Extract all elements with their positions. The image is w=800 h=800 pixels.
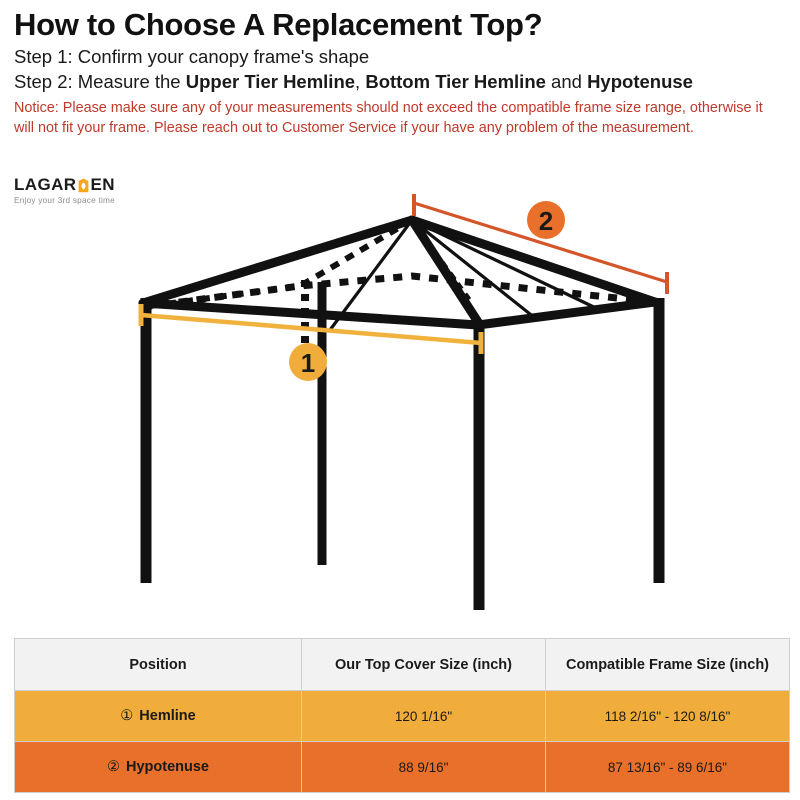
step-2-term-upper-tier-hemline: Upper Tier Hemline [186, 71, 355, 92]
support-posts [146, 282, 659, 610]
table-row: ①Hemline 120 1/16" 118 2/16" - 120 8/16" [15, 691, 790, 742]
cell-our-size-hypotenuse: 88 9/16" [302, 742, 546, 793]
column-header-position: Position [15, 639, 302, 691]
step-2-line: Step 2: Measure the Upper Tier Hemline, … [14, 70, 788, 94]
cell-compatible-hemline: 118 2/16" - 120 8/16" [546, 691, 790, 742]
badge-hemline-1: 1 [289, 343, 327, 381]
badge-hemline-label: 1 [301, 348, 315, 378]
cell-our-size-hemline: 120 1/16" [302, 691, 546, 742]
step-2-term-hypotenuse: Hypotenuse [587, 71, 693, 92]
badge-hypotenuse-label: 2 [539, 206, 553, 236]
gazebo-canopy-frame-diagram: 1 2 [0, 190, 800, 630]
table-header-row: Position Our Top Cover Size (inch) Compa… [15, 639, 790, 691]
row-marker-2: ② [107, 759, 120, 775]
table-header: Position Our Top Cover Size (inch) Compa… [15, 639, 790, 691]
cell-position-hypotenuse: ②Hypotenuse [15, 742, 302, 793]
page-title: How to Choose A Replacement Top? [14, 8, 788, 41]
step-2-prefix: Step 2: Measure the [14, 71, 186, 92]
step-2-separator-2: and [546, 71, 587, 92]
row-marker-1: ① [120, 708, 133, 724]
table-body: ①Hemline 120 1/16" 118 2/16" - 120 8/16"… [15, 691, 790, 793]
step-2-term-bottom-tier-hemline: Bottom Tier Hemline [365, 71, 546, 92]
notice-text: Notice: Please make sure any of your mea… [14, 99, 776, 139]
step-1-text: Step 1: Confirm your canopy frame's shap… [14, 46, 369, 67]
size-specification-table: Position Our Top Cover Size (inch) Compa… [14, 638, 790, 793]
badge-hypotenuse-2: 2 [527, 201, 565, 239]
cell-compatible-hypotenuse: 87 13/16" - 89 6/16" [546, 742, 790, 793]
column-header-compatible: Compatible Frame Size (inch) [546, 639, 790, 691]
step-2-separator-1: , [355, 71, 365, 92]
header-text-block: How to Choose A Replacement Top? Step 1:… [14, 8, 788, 139]
replacement-top-guide-page: How to Choose A Replacement Top? Step 1:… [0, 0, 800, 800]
step-1-line: Step 1: Confirm your canopy frame's shap… [14, 45, 788, 69]
row-label-hypotenuse: Hypotenuse [126, 759, 209, 775]
table-row: ②Hypotenuse 88 9/16" 87 13/16" - 89 6/16… [15, 742, 790, 793]
cell-position-hemline: ①Hemline [15, 691, 302, 742]
row-label-hemline: Hemline [139, 708, 195, 724]
column-header-our-size: Our Top Cover Size (inch) [302, 639, 546, 691]
